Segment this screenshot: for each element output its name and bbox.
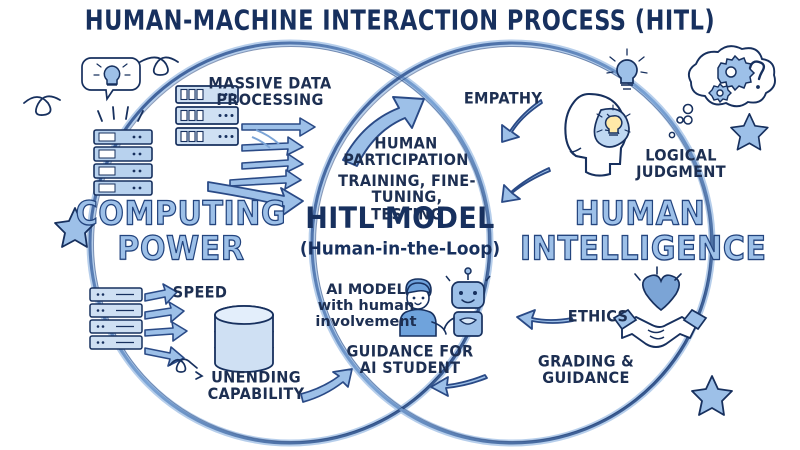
lightbulb-speech-bubble-icon: [82, 58, 140, 99]
handshake-heart-icon: [614, 267, 706, 347]
label-computing-power: COMPUTING POWER: [66, 197, 296, 267]
head-brain-lightbulb-icon: [565, 94, 630, 176]
star-icon: [692, 376, 732, 415]
database-cylinder-icon: [215, 306, 273, 372]
label-ai-model: AI MODEL with human involvement: [312, 282, 420, 331]
label-human-intelligence: HUMAN INTELLIGENCE: [520, 197, 760, 267]
label-guidance-for-ai-student: GUIDANCE FOR AI STUDENT: [340, 345, 480, 378]
thought-cloud-gears-question-icon: [677, 46, 775, 123]
label-human-participation: HUMAN PARTICIPATION: [336, 137, 476, 170]
server-rack-sparkle-icon: [94, 107, 152, 195]
label-logical-judgment: LOGICAL JUDGMENT: [626, 149, 736, 182]
label-speed: SPEED: [160, 285, 240, 302]
page-title: HUMAN-MACHINE INTERACTION PROCESS (HITL): [0, 6, 800, 36]
label-ethics: ETHICS: [558, 309, 638, 326]
label-massive-data-processing: MASSIVE DATA PROCESSING: [190, 77, 350, 110]
label-hitl-model: HITL MODEL: [300, 204, 500, 235]
label-hitl-expansion: (Human-in-the-Loop): [290, 239, 510, 258]
star-icon: [731, 114, 768, 150]
label-grading-and-guidance: GRADING & GUIDANCE: [516, 355, 656, 388]
server-rack-icon: [90, 288, 142, 349]
diagram-canvas: HUMAN-MACHINE INTERACTION PROCESS (HITL)…: [0, 0, 800, 450]
label-unending-capability: UNENDING CAPABILITY: [186, 371, 326, 404]
label-empathy: EMPATHY: [458, 91, 548, 108]
arrow-right-icon: [230, 118, 315, 189]
